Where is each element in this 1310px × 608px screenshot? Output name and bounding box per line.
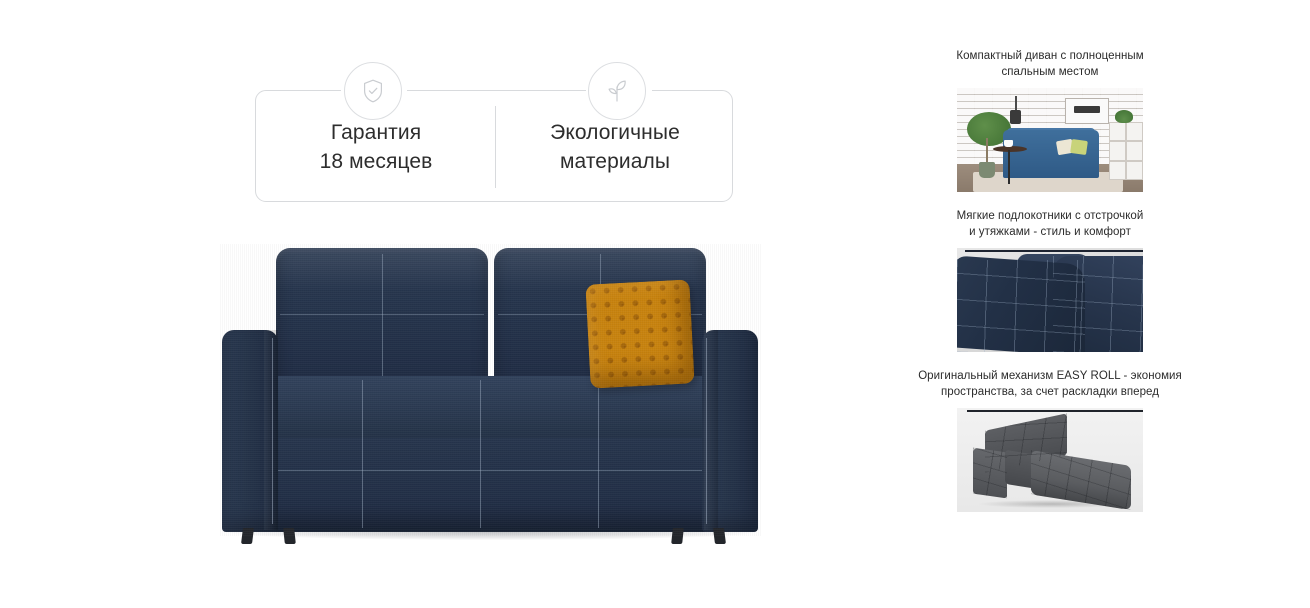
sofa-back-horizontal-seam-left [280,314,484,315]
badge-eco-line2: материалы [560,147,670,176]
thumb-armrest [957,255,1085,352]
feature-badge-panel: Гарантия 18 месяцев Экологичные материал… [255,90,733,202]
pendant-lamp [1010,110,1021,124]
poster-text [1074,106,1100,113]
feature-caption-line2: и утяжками - стиль и комфорт [889,224,1211,240]
thumb-bed-armrest [973,448,1007,499]
armrest-closeup-thumbnail[interactable] [957,248,1143,352]
sofa-leg [671,528,684,544]
sofa-seat-seam-3 [598,380,599,528]
unfolded-sofabed-thumbnail[interactable] [957,408,1143,512]
accent-pillow [585,279,694,388]
feature-caption: Оригинальный механизм EASY ROLL - эконом… [885,368,1215,400]
thumb-pillow-green [1070,139,1088,155]
feature-item-armrests: Мягкие подлокотники с отстрочкой и утяжк… [885,208,1215,352]
sofa-seat-horizontal-seam [260,470,724,471]
feature-caption: Мягкие подлокотники с отстрочкой и утяжк… [885,208,1215,240]
sofa-armrest-facet-left [264,330,278,530]
sofa-leg [713,528,726,544]
feature-caption-line2: пространства, за счет раскладки вперед [889,384,1211,400]
feature-caption-line1: Компактный диван с полноценным [889,48,1211,64]
sofa-armrest-stitch-right [706,338,707,524]
product-hero-image [180,230,800,560]
feature-item-easy-roll: Оригинальный механизм EASY ROLL - эконом… [885,368,1215,512]
interior-scene-thumbnail[interactable] [957,88,1143,192]
sofa-armrest-stitch-left [272,338,273,524]
indoor-tree-pot [979,162,995,178]
sofa-seat-cushions [258,376,726,438]
side-table-leg [1008,150,1010,184]
feature-caption-line1: Оригинальный механизм EASY ROLL - эконом… [889,368,1211,384]
sofa-seat-seam-1 [362,380,363,528]
eco-leaf-icon [588,62,646,120]
potted-plant-small [1115,110,1133,123]
sofa-leg [283,528,296,544]
feature-item-sleeping-place: Компактный диван с полноценным спальным … [885,48,1215,192]
shelf-divider [1125,122,1127,180]
indoor-tree-trunk [986,138,988,164]
shield-check-icon [344,62,402,120]
sofa-leg [241,528,254,544]
sofa-seat-seam-2 [480,380,481,528]
feature-caption-line2: спальным местом [889,64,1211,80]
badge-eco-line1: Экологичные [550,118,680,147]
feature-list: Компактный диван с полноценным спальным … [885,48,1215,528]
thumb-top-rule [967,410,1143,412]
feature-caption-line1: Мягкие подлокотники с отстрочкой [889,208,1211,224]
badge-warranty-line1: Гарантия [331,118,421,147]
thumb-top-rule [965,250,1143,252]
coffee-cup [1004,140,1013,147]
badge-warranty-line2: 18 месяцев [320,147,433,176]
feature-caption: Компактный диван с полноценным спальным … [885,48,1215,80]
